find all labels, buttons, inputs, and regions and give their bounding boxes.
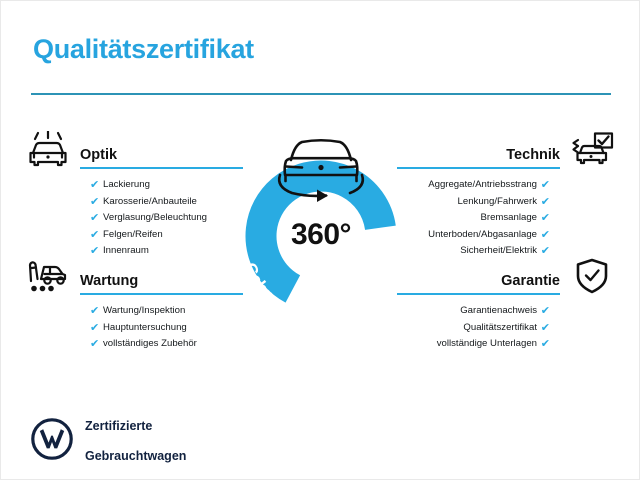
footer-line-2: Gebrauchtwagen [85, 449, 186, 464]
check-icon: ✔ [90, 227, 99, 244]
list-item-label: Garantienachweis [460, 305, 537, 316]
list-item: ✔Verglasung/Beleuchtung [103, 210, 207, 227]
page-title: Qualitätszertifikat [33, 34, 254, 65]
check-icon: ✔ [541, 227, 550, 244]
check-icon: ✔ [541, 320, 550, 337]
list-item: ✔Innenraum [103, 243, 207, 260]
badge-center-label: 360° [216, 218, 426, 252]
section-list: Aggregate/Antriebsstrang✔ Lenkung/Fahrwe… [428, 177, 537, 260]
car-lift-checkbox-icon [569, 131, 615, 171]
list-item-label: Lackierung [103, 179, 150, 190]
list-item: ✔Hauptuntersuchung [103, 320, 197, 337]
section-list: Garantienachweis✔ Qualitätszertifikat✔ v… [437, 303, 537, 353]
list-item: ✔Wartung/Inspektion [103, 303, 197, 320]
list-item: Unterboden/Abgasanlage✔ [428, 227, 537, 244]
badge-360-gebrauchtwagen-check: Gebrauchtwagen-Check 360° [216, 123, 426, 308]
vw-roundel-icon [31, 418, 73, 465]
section-list: ✔Lackierung ✔Karosserie/Anbauteile ✔Verg… [103, 177, 207, 260]
list-item: ✔Karosserie/Anbauteile [103, 194, 207, 211]
footer-line-1: Zertifizierte [85, 419, 186, 434]
check-icon: ✔ [90, 177, 99, 194]
shield-check-icon [569, 257, 615, 297]
check-icon: ✔ [90, 303, 99, 320]
footer-brand: Zertifizierte Gebrauchtwagen [31, 404, 186, 479]
check-icon: ✔ [90, 194, 99, 211]
footer-brand-text: Zertifizierte Gebrauchtwagen [85, 404, 186, 479]
list-item: Qualitätszertifikat✔ [437, 320, 537, 337]
check-icon: ✔ [541, 336, 550, 353]
list-item-label: Lenkung/Fahrwerk [458, 196, 537, 207]
check-icon: ✔ [541, 177, 550, 194]
header-divider [31, 93, 611, 95]
check-icon: ✔ [541, 303, 550, 320]
check-icon: ✔ [90, 336, 99, 353]
check-icon: ✔ [541, 194, 550, 211]
check-icon: ✔ [90, 320, 99, 337]
list-item: vollständige Unterlagen✔ [437, 336, 537, 353]
check-icon: ✔ [90, 210, 99, 227]
check-icon: ✔ [541, 210, 550, 227]
list-item: ✔Lackierung [103, 177, 207, 194]
list-item-label: Aggregate/Antriebsstrang [428, 179, 537, 190]
list-item: ✔Felgen/Reifen [103, 227, 207, 244]
section-title: Optik [80, 147, 117, 163]
list-item: Aggregate/Antriebsstrang✔ [428, 177, 537, 194]
list-item-label: vollständige Unterlagen [437, 338, 537, 349]
list-item-label: Sicherheit/Elektrik [460, 245, 537, 256]
list-item-label: Hauptuntersuchung [103, 322, 187, 333]
car-shine-icon [25, 131, 71, 171]
list-item: ✔vollständiges Zubehör [103, 336, 197, 353]
list-item-label: Innenraum [103, 245, 149, 256]
list-item: Sicherheit/Elektrik✔ [428, 243, 537, 260]
check-icon: ✔ [541, 243, 550, 260]
list-item-label: Unterboden/Abgasanlage [428, 229, 537, 240]
section-title: Wartung [80, 273, 138, 289]
check-icon: ✔ [90, 243, 99, 260]
list-item-label: Wartung/Inspektion [103, 305, 185, 316]
section-list: ✔Wartung/Inspektion ✔Hauptuntersuchung ✔… [103, 303, 197, 353]
section-title: Technik [506, 147, 560, 163]
list-item-label: Karosserie/Anbauteile [103, 196, 197, 207]
list-item-label: Qualitätszertifikat [463, 322, 537, 333]
section-title: Garantie [501, 273, 560, 289]
car-service-tool-icon [25, 257, 71, 297]
list-item-label: Verglasung/Beleuchtung [103, 212, 207, 223]
list-item-label: vollständiges Zubehör [103, 338, 197, 349]
list-item-label: Bremsanlage [480, 212, 537, 223]
list-item: Bremsanlage✔ [428, 210, 537, 227]
list-item: Garantienachweis✔ [437, 303, 537, 320]
certificate-page: Qualitätszertifikat [0, 0, 640, 480]
list-item-label: Felgen/Reifen [103, 229, 163, 240]
list-item: Lenkung/Fahrwerk✔ [428, 194, 537, 211]
